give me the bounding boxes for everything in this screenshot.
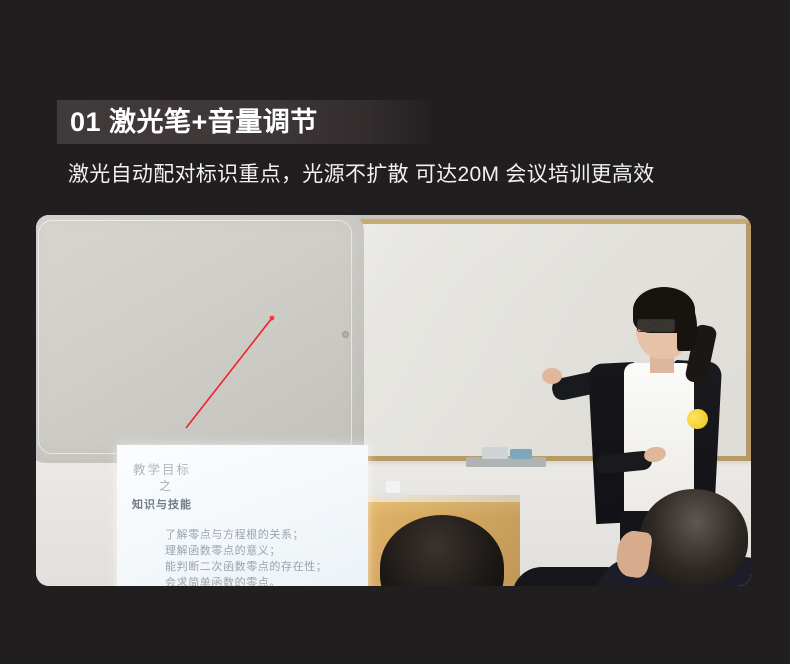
- slide-title-line3: 知识与技能: [132, 496, 192, 512]
- presenter-glasses: [637, 319, 675, 332]
- whiteboard-eraser: [482, 447, 508, 459]
- slide-body-line-3: 能判断二次函数零点的存在性；: [165, 559, 327, 575]
- presenter-hair-side: [677, 303, 697, 351]
- projection-panel-bezel: [38, 220, 352, 454]
- page-title: 01 激光笔+音量调节: [70, 101, 318, 143]
- slide-title-line1: 教学目标: [133, 459, 191, 478]
- slide-body-line-4: 会求简单函数的零点。: [165, 575, 327, 586]
- cup-saucer: [378, 493, 408, 498]
- projection-screen-panel: [36, 215, 364, 463]
- panel-camera-icon: [342, 331, 349, 338]
- slide-body: 了解零点与方程根的关系； 理解函数零点的意义； 能判断二次函数零点的存在性； 会…: [165, 527, 327, 586]
- page-subtitle: 激光自动配对标识重点，光源不扩散 可达20M 会议培训更高效: [68, 158, 655, 188]
- page-root: 01 激光笔+音量调节 激光自动配对标识重点，光源不扩散 可达20M 会议培训更…: [0, 0, 790, 664]
- audience-member-2-head: [640, 489, 748, 585]
- presenter-left-hand: [542, 368, 562, 384]
- presentation-scene-photo: 教学目标 之 知识与技能 了解零点与方程根的关系； 理解函数零点的意义； 能判断…: [36, 215, 751, 586]
- whiteboard-marker: [510, 449, 532, 459]
- slide-body-line-1: 了解零点与方程根的关系；: [165, 527, 327, 543]
- slide-body-line-2: 理解函数零点的意义；: [165, 543, 327, 559]
- projected-slide: 教学目标 之 知识与技能 了解零点与方程根的关系； 理解函数零点的意义； 能判断…: [117, 445, 368, 586]
- slide-title-line2: 之: [159, 477, 172, 494]
